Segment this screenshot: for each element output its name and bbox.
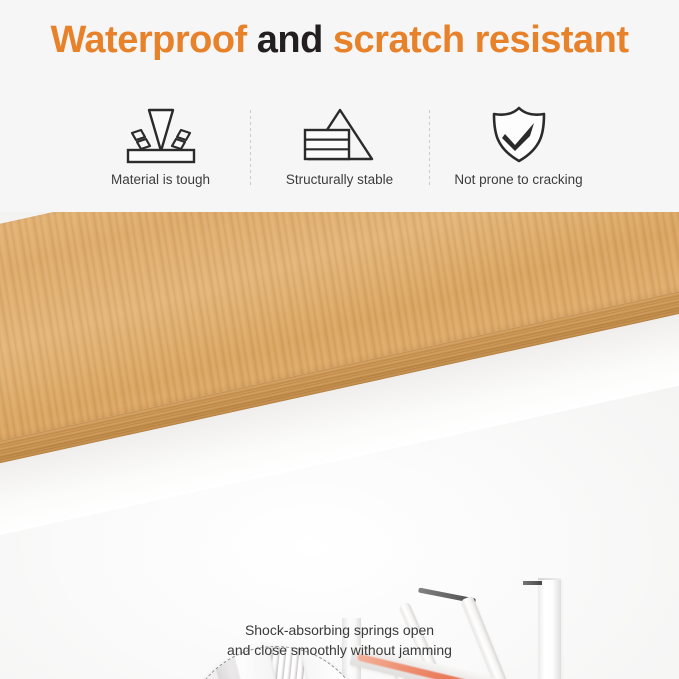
feature-item-not-prone-cracking: Not prone to cracking [430, 104, 608, 187]
hinge-bracket [523, 581, 542, 585]
feature-item-structurally-stable: Structurally stable [251, 104, 429, 187]
page-title: Waterproof and scratch resistant [0, 18, 679, 64]
feature-list: Material is tough Structurally stable [0, 104, 679, 204]
product-feature-image: Waterproof and scratch resistant Materia… [0, 0, 679, 679]
feature-label: Structurally stable [286, 172, 393, 187]
feature-label: Not prone to cracking [454, 172, 582, 187]
shield-check-icon [486, 104, 552, 166]
caption: Shock-absorbing springs open and close s… [0, 620, 679, 661]
caption-line-2: and close smoothly without jamming [0, 640, 679, 660]
product-photo [0, 212, 679, 679]
caption-line-1: Shock-absorbing springs open [0, 620, 679, 640]
impact-wedge-icon [120, 104, 202, 166]
feature-label: Material is tough [111, 172, 210, 187]
headline-part-and: and [257, 19, 333, 61]
headline-part-waterproof: Waterproof [50, 19, 256, 61]
feature-item-material-tough: Material is tough [72, 104, 250, 187]
headline-part-scratch-resistant: scratch resistant [333, 19, 629, 61]
layered-stack-triangle-icon [296, 104, 384, 166]
